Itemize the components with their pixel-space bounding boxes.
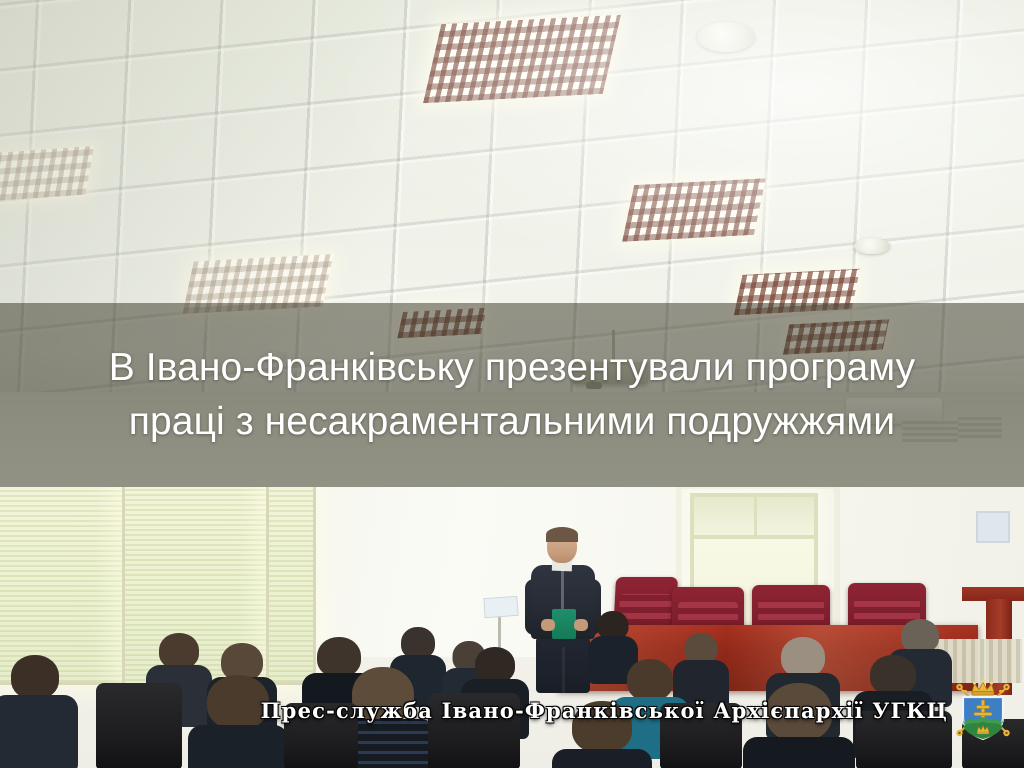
seat-back <box>284 703 358 768</box>
audience-person <box>676 633 726 707</box>
room-region <box>0 487 1024 768</box>
audience-person <box>560 701 644 768</box>
seat-back <box>660 703 742 768</box>
seat-back <box>962 719 1024 768</box>
news-hero-image: В Івано-Франківську презентували програм… <box>0 0 1024 768</box>
seat-back <box>428 693 520 768</box>
green-book <box>552 609 576 639</box>
seat-back <box>856 711 952 768</box>
audience-person <box>752 683 846 768</box>
audience-person <box>0 655 70 765</box>
sign-stand-plate <box>483 596 518 618</box>
wall-picture <box>976 511 1010 543</box>
seat-back <box>96 683 182 768</box>
title-overlay-band <box>0 303 1024 487</box>
audience-person <box>196 675 280 768</box>
